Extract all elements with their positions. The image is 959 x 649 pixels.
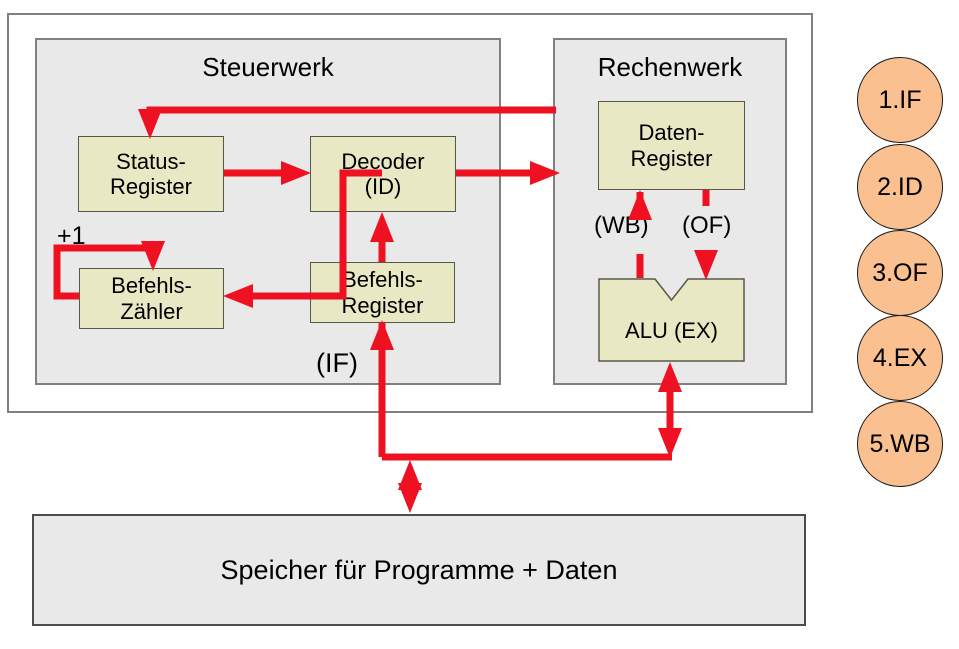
write-back-label: (WB) [594, 212, 649, 240]
alu-label: ALU (EX) [598, 318, 745, 344]
status-register-box: Status- Register [78, 136, 224, 212]
operand-fetch-label: (OF) [682, 212, 731, 240]
stage-circle-5: 5.WB [857, 401, 943, 487]
alu-box: ALU (EX) [598, 278, 745, 362]
control-unit-title: Steuerwerk [37, 53, 499, 83]
stage-label-1: 1.IF [878, 86, 921, 115]
arrowhead-memory-up [398, 460, 422, 490]
data-register-box: Daten- Register [598, 101, 745, 190]
data-register-label-2: Register [631, 146, 713, 171]
program-counter-label-1: Befehls- [111, 273, 192, 298]
instruction-fetch-label: (IF) [316, 348, 358, 379]
decoder-label-2: (ID) [341, 174, 424, 199]
decoder-label-1: Decoder [341, 149, 424, 174]
stage-circle-3: 3.OF [857, 230, 943, 316]
instruction-register-label-1: Befehls- [342, 267, 424, 292]
memory-box: Speicher für Programme + Daten [32, 514, 806, 626]
status-register-label-2: Register [110, 174, 192, 199]
stage-circle-4: 4.EX [857, 315, 943, 401]
stage-label-2: 2.ID [877, 173, 923, 202]
decoder-box: Decoder (ID) [310, 136, 456, 212]
status-register-label-1: Status- [110, 149, 192, 174]
program-counter-label-2: Zähler [111, 299, 192, 324]
data-register-label-1: Daten- [631, 120, 713, 145]
stage-label-4: 4.EX [873, 344, 927, 373]
stage-circle-2: 2.ID [857, 144, 943, 230]
increment-label: +1 [57, 222, 86, 251]
cpu-block-diagram: Steuerwerk Rechenwerk Status- Register D… [0, 0, 959, 649]
arrowhead-bus-down [658, 428, 682, 458]
arithmetic-unit-title: Rechenwerk [555, 53, 785, 83]
instruction-register-label-2: Register [342, 293, 424, 318]
stage-circle-1: 1.IF [857, 57, 943, 143]
arrowhead-memory-down [398, 483, 422, 513]
memory-label: Speicher für Programme + Daten [221, 555, 618, 586]
program-counter-box: Befehls- Zähler [79, 268, 224, 329]
stage-label-3: 3.OF [872, 259, 928, 288]
instruction-register-box: Befehls- Register [310, 262, 455, 323]
stage-label-5: 5.WB [869, 430, 930, 459]
